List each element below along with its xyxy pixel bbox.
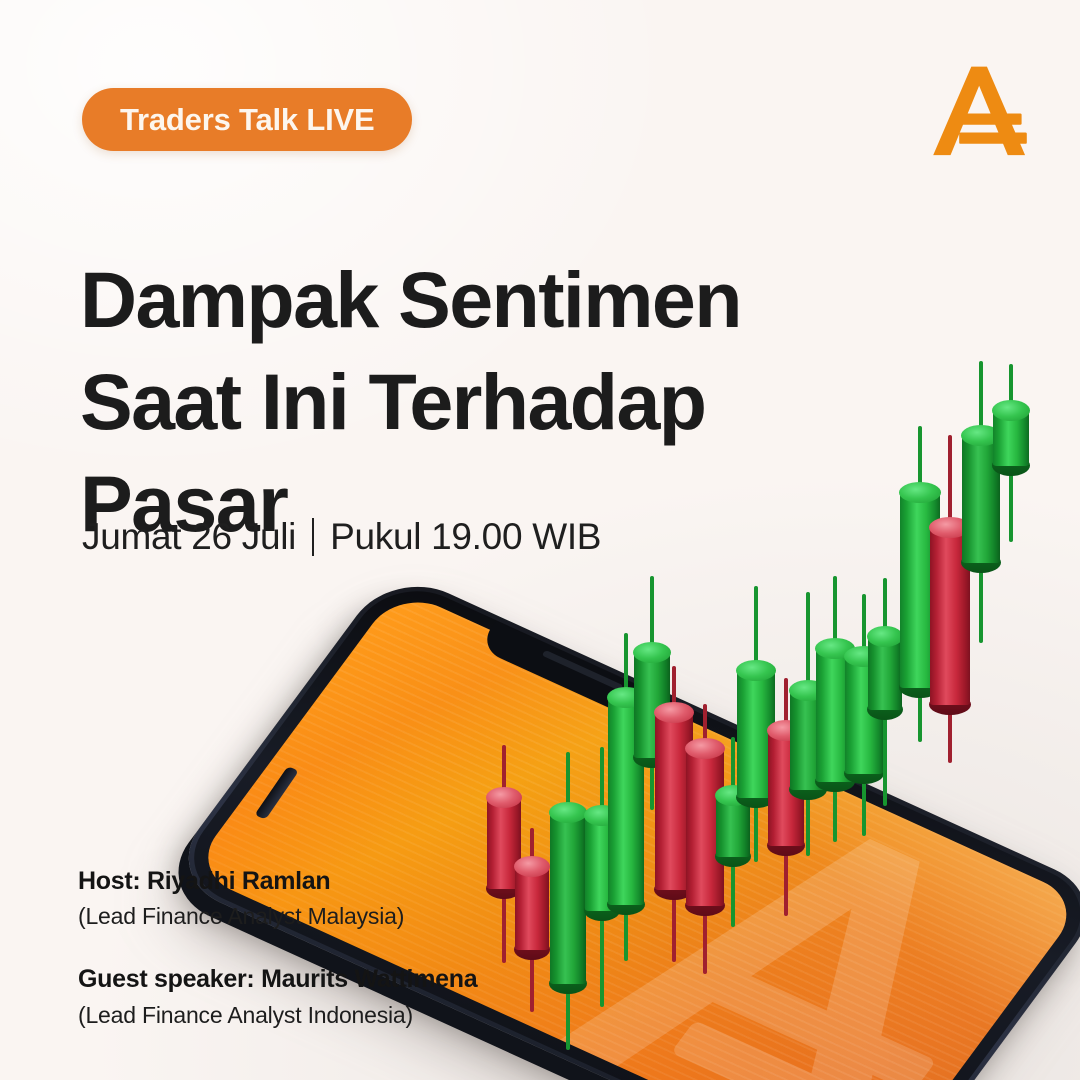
candle-top bbox=[654, 702, 694, 723]
event-date: Jumat 26 Juli bbox=[82, 516, 296, 558]
candle-body bbox=[868, 636, 902, 710]
candle-top bbox=[867, 626, 903, 647]
wick-lower bbox=[784, 846, 788, 916]
phone-side-button bbox=[254, 766, 299, 819]
wick-lower bbox=[806, 790, 810, 856]
candle-base bbox=[549, 973, 587, 994]
candle-base bbox=[715, 846, 751, 867]
candle-top bbox=[789, 680, 827, 701]
wick-upper bbox=[754, 586, 758, 670]
wick-upper bbox=[1009, 364, 1013, 410]
datetime-separator bbox=[312, 518, 314, 556]
candle-base bbox=[685, 895, 725, 916]
wick-upper bbox=[731, 737, 735, 795]
event-time: Pukul 19.00 WIB bbox=[330, 516, 601, 558]
candle-body bbox=[930, 527, 970, 705]
wick-lower bbox=[731, 857, 735, 927]
candle-top bbox=[815, 638, 855, 659]
candlestick-11 bbox=[768, 730, 804, 846]
wick-upper bbox=[703, 704, 707, 748]
wick-lower bbox=[948, 705, 952, 763]
candle-base bbox=[736, 787, 776, 808]
wick-lower bbox=[650, 758, 654, 810]
wick-upper bbox=[948, 435, 952, 527]
wick-lower bbox=[862, 774, 866, 836]
candle-body bbox=[737, 670, 775, 798]
candlestick-9 bbox=[716, 795, 750, 857]
wick-lower bbox=[566, 984, 570, 1050]
candle-base bbox=[815, 771, 855, 792]
wick-upper bbox=[650, 576, 654, 652]
host-name: Host: Riyadhi Ramlan bbox=[78, 866, 548, 897]
candle-top bbox=[685, 738, 725, 759]
candle-base bbox=[929, 694, 971, 715]
candle-top bbox=[633, 642, 671, 663]
candle-base bbox=[654, 879, 694, 900]
candle-body bbox=[655, 712, 693, 890]
candle-body bbox=[993, 410, 1029, 466]
page-title: Dampak Sentimen Saat Ini Terhadap Pasar bbox=[80, 249, 800, 555]
candle-base bbox=[867, 699, 903, 720]
host-role: (Lead Finance Analyst Malaysia) bbox=[78, 901, 548, 932]
candle-body bbox=[816, 648, 854, 782]
wick-lower bbox=[979, 563, 983, 643]
candle-base bbox=[961, 552, 1001, 573]
wick-upper bbox=[918, 426, 922, 492]
wick-upper bbox=[784, 678, 788, 730]
candle-top bbox=[715, 785, 751, 806]
candle-top bbox=[767, 720, 805, 741]
credit-host: Host: Riyadhi Ramlan (Lead Finance Analy… bbox=[78, 866, 548, 932]
wick-upper bbox=[566, 752, 570, 812]
phone-notch bbox=[477, 621, 688, 734]
wick-lower bbox=[703, 906, 707, 974]
promo-poster: Traders Talk LIVE Dampak Sentimen Saat I… bbox=[0, 0, 1080, 1080]
wick-lower bbox=[672, 890, 676, 962]
wick-lower bbox=[624, 905, 628, 961]
wick-upper bbox=[979, 361, 983, 435]
candlestick-7 bbox=[655, 712, 693, 890]
candle-body bbox=[962, 435, 1000, 563]
candlestick-10 bbox=[737, 670, 775, 798]
candle-base bbox=[633, 747, 671, 768]
credit-guest: Guest speaker: Maurits Wattimena (Lead F… bbox=[78, 964, 548, 1030]
candle-top bbox=[961, 425, 1001, 446]
candlestick-16 bbox=[900, 492, 940, 688]
candle-body bbox=[900, 492, 940, 688]
guest-role: (Lead Finance Analyst Indonesia) bbox=[78, 1000, 548, 1031]
live-badge-label: Traders Talk LIVE bbox=[120, 102, 374, 138]
candlestick-8 bbox=[686, 748, 724, 906]
wick-upper bbox=[862, 594, 866, 656]
candle-base bbox=[899, 677, 941, 698]
wick-lower bbox=[1009, 466, 1013, 542]
wick-upper bbox=[600, 747, 604, 815]
candle-body bbox=[634, 652, 670, 758]
brand-a-logo-icon bbox=[928, 58, 1032, 162]
candle-base bbox=[789, 779, 827, 800]
candlestick-18 bbox=[962, 435, 1000, 563]
wick-lower bbox=[883, 710, 887, 806]
candle-body bbox=[845, 656, 883, 774]
candlestick-6 bbox=[634, 652, 670, 758]
candle-body bbox=[716, 795, 750, 857]
live-badge[interactable]: Traders Talk LIVE bbox=[82, 88, 412, 151]
speaker-credits: Host: Riyadhi Ramlan (Lead Finance Analy… bbox=[78, 866, 548, 1031]
candlestick-14 bbox=[845, 656, 883, 774]
candlestick-15 bbox=[868, 636, 902, 710]
candlestick-4 bbox=[585, 815, 619, 911]
wick-upper bbox=[806, 592, 810, 690]
candle-top bbox=[549, 802, 587, 823]
candlestick-13 bbox=[816, 648, 854, 782]
wick-upper bbox=[530, 828, 534, 866]
candlestick-12 bbox=[790, 690, 826, 790]
candlestick-17 bbox=[930, 527, 970, 705]
wick-upper bbox=[624, 633, 628, 697]
candle-base bbox=[767, 835, 805, 856]
wick-lower bbox=[833, 782, 837, 842]
candle-top bbox=[992, 400, 1030, 421]
wick-lower bbox=[600, 911, 604, 1007]
candle-body bbox=[550, 812, 586, 984]
wick-lower bbox=[918, 688, 922, 742]
candle-body bbox=[790, 690, 826, 790]
guest-name: Guest speaker: Maurits Wattimena bbox=[78, 964, 548, 995]
candle-body bbox=[686, 748, 724, 906]
candle-top bbox=[607, 687, 645, 708]
wick-upper bbox=[833, 576, 837, 648]
phone-speaker bbox=[542, 650, 624, 691]
candle-base bbox=[607, 894, 645, 915]
candle-base bbox=[992, 455, 1030, 476]
candle-top bbox=[736, 660, 776, 681]
candlestick-5 bbox=[608, 697, 644, 905]
candle-body bbox=[608, 697, 644, 905]
wick-upper bbox=[672, 666, 676, 712]
candlestick-3 bbox=[550, 812, 586, 984]
wick-lower bbox=[754, 798, 758, 862]
candle-top bbox=[929, 517, 971, 538]
candle-top bbox=[844, 646, 884, 667]
event-datetime: Jumat 26 Juli Pukul 19.00 WIB bbox=[82, 516, 601, 558]
candle-body bbox=[585, 815, 619, 911]
wick-upper bbox=[502, 745, 506, 797]
candle-base bbox=[844, 763, 884, 784]
candlestick-19 bbox=[993, 410, 1029, 466]
screen-watermark-a-icon bbox=[482, 749, 1080, 1080]
wick-upper bbox=[883, 578, 887, 636]
candle-body bbox=[768, 730, 804, 846]
candle-top bbox=[899, 482, 941, 503]
candle-base bbox=[584, 900, 620, 921]
candle-top bbox=[584, 805, 620, 826]
candle-top bbox=[486, 787, 522, 808]
